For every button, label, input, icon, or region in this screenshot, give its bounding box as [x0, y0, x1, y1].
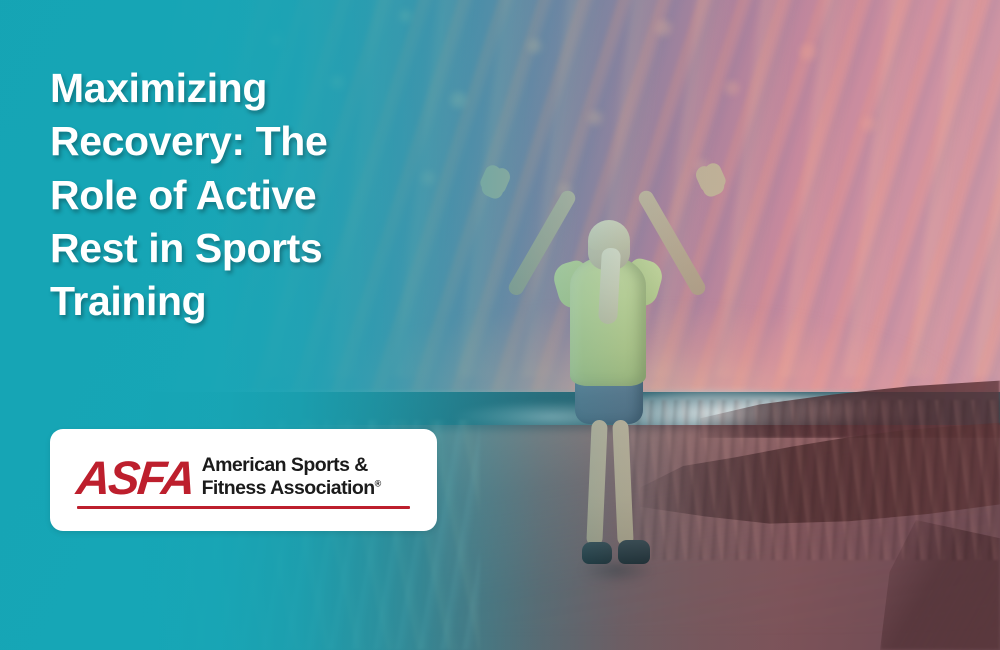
- banner-content: Maximizing Recovery: The Role of Active …: [0, 0, 1000, 650]
- asfa-wordmark: ASFA: [75, 454, 201, 501]
- logo-inner: ASFA American Sports & Fitness Associati…: [77, 452, 410, 509]
- asfa-name-line-2-wrap: Fitness Association®: [202, 477, 382, 500]
- article-banner: Maximizing Recovery: The Role of Active …: [0, 0, 1000, 650]
- asfa-logo-card[interactable]: ASFA American Sports & Fitness Associati…: [50, 429, 437, 531]
- asfa-full-name: American Sports & Fitness Association®: [202, 454, 382, 499]
- asfa-name-line-2: Fitness Association: [202, 477, 375, 499]
- page-title: Maximizing Recovery: The Role of Active …: [50, 62, 380, 328]
- registered-trademark-icon: ®: [375, 479, 382, 489]
- asfa-name-line-1: American Sports &: [202, 454, 368, 476]
- logo-row: ASFA American Sports & Fitness Associati…: [77, 454, 410, 501]
- logo-underline-rule: [77, 506, 410, 509]
